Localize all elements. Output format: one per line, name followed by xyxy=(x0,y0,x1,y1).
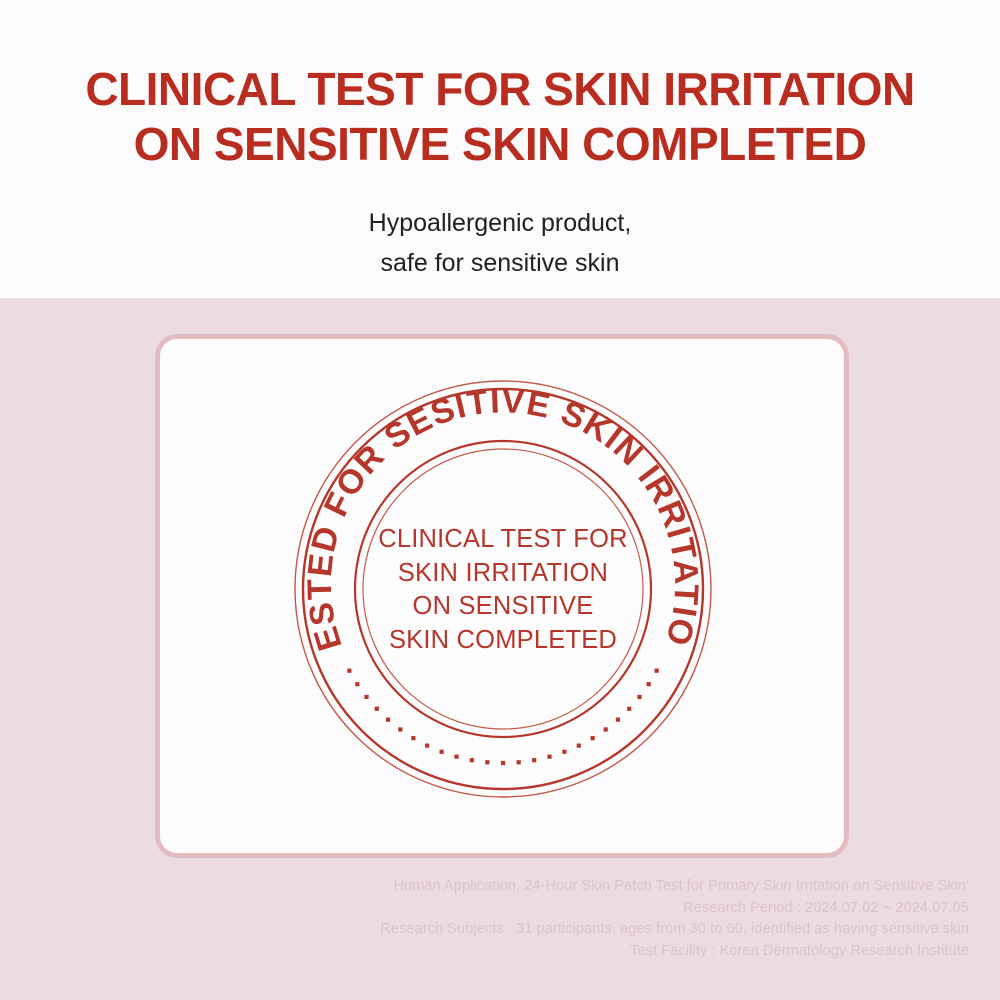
footnote-line-2: Research Period : 2024.07.02 ~ 2024.07.0… xyxy=(0,898,969,920)
footnote-line-1: Human Application, 24-Hour Skin Patch Te… xyxy=(0,876,969,898)
seal-dot xyxy=(501,761,505,765)
seal-dot xyxy=(364,695,368,699)
page-subtitle-line-2: safe for sensitive skin xyxy=(0,243,1000,283)
footnote-line-3: Research Subjects : 31 participants, age… xyxy=(0,919,969,941)
seal-dot xyxy=(616,718,620,722)
seal-dot xyxy=(532,758,536,762)
seal-dot xyxy=(547,755,551,759)
page-title: CLINICAL TEST FOR SKIN IRRITATION ON SEN… xyxy=(0,62,1000,172)
seal-dot-arc xyxy=(347,669,658,766)
seal-inner-line-2: SKIN IRRITATION xyxy=(292,557,714,591)
header-band: CLINICAL TEST FOR SKIN IRRITATION ON SEN… xyxy=(0,0,1000,298)
seal-inner-line-4: SKIN COMPLETED xyxy=(292,624,714,658)
seal-inner-line-3: ON SENSITIVE xyxy=(292,590,714,624)
seal-dot xyxy=(347,669,351,673)
seal-dot xyxy=(604,727,608,731)
seal-inner-text: CLINICAL TEST FOR SKIN IRRITATION ON SEN… xyxy=(292,523,714,657)
footnote-line-4: Test Facility : Korea Dermatology Resear… xyxy=(0,941,969,963)
seal-dot xyxy=(454,755,458,759)
page-subtitle: Hypoallergenic product, safe for sensiti… xyxy=(0,203,1000,283)
seal-dot xyxy=(398,727,402,731)
seal-dot xyxy=(655,669,659,673)
seal-dot xyxy=(411,736,415,740)
seal-dot xyxy=(470,758,474,762)
seal-dot xyxy=(517,760,521,764)
seal-dot xyxy=(375,707,379,711)
page-title-line-2: ON SENSITIVE SKIN COMPLETED xyxy=(0,117,1000,172)
seal-dot xyxy=(485,760,489,764)
seal-dot xyxy=(647,682,651,686)
seal-dot xyxy=(591,736,595,740)
seal-dot xyxy=(425,744,429,748)
seal-dot xyxy=(355,682,359,686)
seal-dot xyxy=(637,695,641,699)
seal-dot xyxy=(577,744,581,748)
seal-dot xyxy=(439,750,443,754)
seal-dot xyxy=(562,750,566,754)
seal-inner-line-1: CLINICAL TEST FOR xyxy=(292,523,714,557)
seal-dot xyxy=(627,707,631,711)
page-subtitle-line-1: Hypoallergenic product, xyxy=(0,203,1000,243)
study-footnotes: Human Application, 24-Hour Skin Patch Te… xyxy=(0,876,969,962)
page-title-line-1: CLINICAL TEST FOR SKIN IRRITATION xyxy=(0,62,1000,117)
seal-dot xyxy=(386,718,390,722)
